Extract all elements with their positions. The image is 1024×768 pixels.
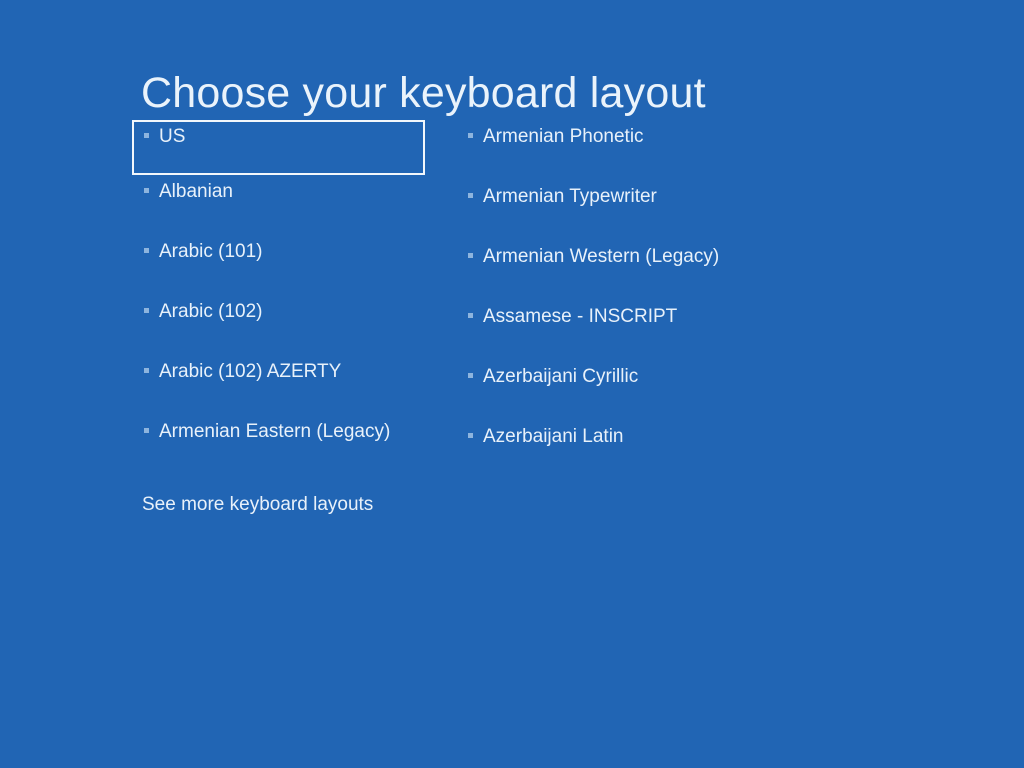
keyboard-layout-option-armenian-eastern-legacy[interactable]: Armenian Eastern (Legacy): [132, 415, 432, 475]
keyboard-layout-option-armenian-phonetic[interactable]: Armenian Phonetic: [458, 120, 858, 180]
keyboard-layout-label: Azerbaijani Cyrillic: [483, 360, 638, 390]
keyboard-layout-label: Armenian Eastern (Legacy): [159, 415, 390, 445]
keyboard-layout-label: Armenian Western (Legacy): [483, 240, 719, 270]
keyboard-layout-option-albanian[interactable]: Albanian: [132, 175, 432, 235]
keyboard-layout-option-azerbaijani-cyrillic[interactable]: Azerbaijani Cyrillic: [458, 360, 858, 420]
keyboard-layout-option-arabic-101[interactable]: Arabic (101): [132, 235, 432, 295]
keyboard-layout-option-arabic-102-azerty[interactable]: Arabic (102) AZERTY: [132, 355, 432, 415]
bullet-icon: [144, 248, 149, 253]
keyboard-layout-label: Armenian Typewriter: [483, 180, 657, 210]
keyboard-layout-label: Assamese - INSCRIPT: [483, 300, 677, 330]
keyboard-layout-option-us[interactable]: US: [132, 120, 425, 175]
keyboard-layout-label: Armenian Phonetic: [483, 120, 644, 150]
see-more-keyboard-layouts-link[interactable]: See more keyboard layouts: [142, 492, 373, 518]
keyboard-layout-label: US: [159, 122, 185, 150]
keyboard-layout-option-armenian-typewriter[interactable]: Armenian Typewriter: [458, 180, 858, 240]
keyboard-layout-option-armenian-western-legacy[interactable]: Armenian Western (Legacy): [458, 240, 858, 300]
keyboard-layout-screen: Choose your keyboard layout US Albanian …: [0, 0, 1024, 768]
bullet-icon: [144, 368, 149, 373]
bullet-icon: [144, 308, 149, 313]
keyboard-layout-column-left: US Albanian Arabic (101) Arabic (102) Ar…: [132, 120, 432, 475]
bullet-icon: [468, 433, 473, 438]
keyboard-layout-column-right: Armenian Phonetic Armenian Typewriter Ar…: [458, 120, 858, 480]
page-title: Choose your keyboard layout: [141, 65, 706, 121]
bullet-icon: [468, 193, 473, 198]
keyboard-layout-label: Azerbaijani Latin: [483, 420, 623, 450]
keyboard-layout-label: Albanian: [159, 175, 233, 205]
bullet-icon: [144, 133, 149, 138]
bullet-icon: [468, 133, 473, 138]
keyboard-layout-label: Arabic (102) AZERTY: [159, 355, 341, 385]
keyboard-layout-label: Arabic (101): [159, 235, 263, 265]
keyboard-layout-option-arabic-102[interactable]: Arabic (102): [132, 295, 432, 355]
bullet-icon: [468, 253, 473, 258]
bullet-icon: [468, 373, 473, 378]
bullet-icon: [468, 313, 473, 318]
keyboard-layout-label: Arabic (102): [159, 295, 263, 325]
keyboard-layout-option-assamese-inscript[interactable]: Assamese - INSCRIPT: [458, 300, 858, 360]
keyboard-layout-option-azerbaijani-latin[interactable]: Azerbaijani Latin: [458, 420, 858, 480]
bullet-icon: [144, 188, 149, 193]
bullet-icon: [144, 428, 149, 433]
